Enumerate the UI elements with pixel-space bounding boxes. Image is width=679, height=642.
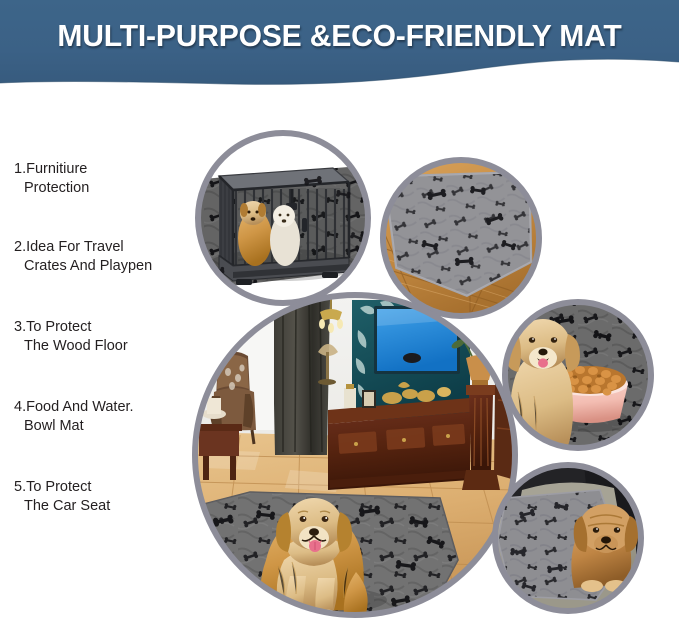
- bubble-crate[interactable]: [190, 133, 382, 303]
- collage-canvas: [0, 96, 679, 642]
- bubble-living-room[interactable]: [195, 295, 515, 625]
- bubble-wood-floor[interactable]: [383, 160, 540, 316]
- bubble-collage: [0, 96, 679, 642]
- tv-console: [328, 398, 470, 490]
- bubble-car-seat[interactable]: [494, 464, 644, 614]
- header-banner: MULTI-PURPOSE &ECO-FRIENDLY MAT: [0, 0, 679, 96]
- bubble-food-bowl[interactable]: [503, 300, 655, 454]
- page-title: MULTI-PURPOSE &ECO-FRIENDLY MAT: [10, 16, 669, 56]
